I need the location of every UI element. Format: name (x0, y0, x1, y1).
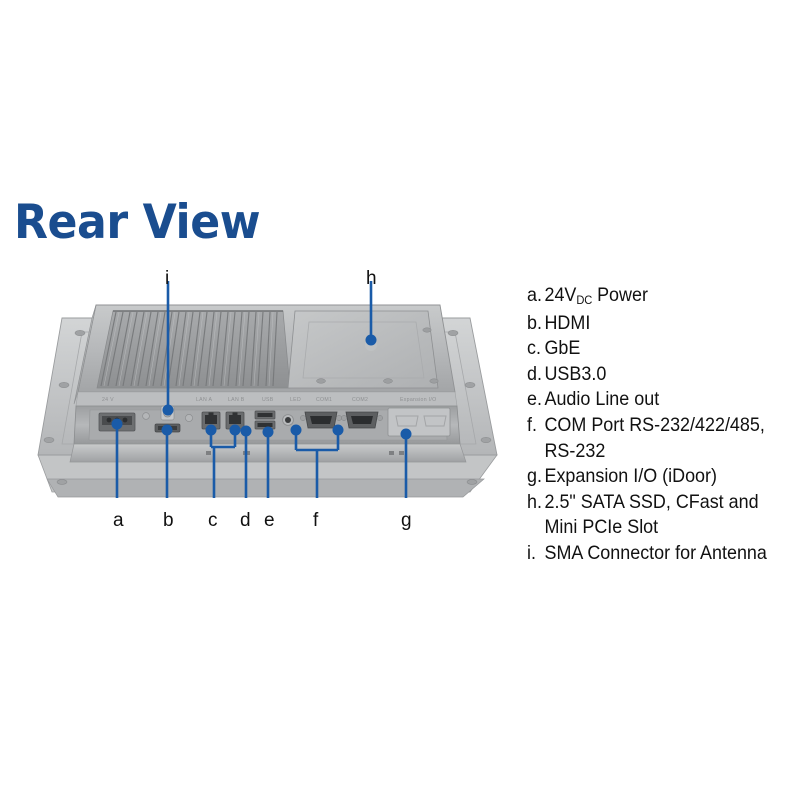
legend-key-f: f. (527, 413, 544, 439)
legend-item-c: c. GbE (527, 336, 774, 362)
legend-value-e: Audio Line out (544, 387, 773, 413)
led-label: LED (290, 397, 301, 403)
legend-value-h: 2.5" SATA SSD, CFast and (544, 490, 773, 516)
callout-letter-g: g (401, 511, 412, 530)
legend-item-a: a. 24VDC Power (527, 283, 774, 311)
page-root: Rear View (0, 0, 800, 800)
legend-item-g: g. Expansion I/O (iDoor) (527, 464, 774, 490)
audio-line-out-jack (283, 415, 294, 426)
legend-value-a: 24VDC Power (544, 283, 773, 311)
callout-letter-h: h (366, 269, 377, 288)
io-silkscreen-strip: 24 V LAN A LAN B USB LED COM1 COM2 Expan… (76, 392, 457, 406)
legend-value-d: USB3.0 (544, 362, 773, 388)
com2-label: COM2 (352, 397, 368, 403)
heatsink (97, 311, 290, 388)
legend-item-h: h. 2.5" SATA SSD, CFast and (527, 490, 774, 516)
callout-letter-e: e (264, 511, 275, 530)
com1-label: COM1 (316, 397, 332, 403)
legend-key-i: i. (527, 541, 544, 567)
legend-key-c: c. (527, 336, 544, 362)
power-label: 24 V (102, 397, 114, 403)
legend-value-a-sub: DC (576, 293, 592, 307)
expansion-io-panel (388, 408, 450, 436)
callout-letter-i: i (165, 269, 169, 288)
legend-item-d: d. USB3.0 (527, 362, 774, 388)
legend-item-f: f. COM Port RS-232/422/485, (527, 413, 774, 439)
legend-value-f: COM Port RS-232/422/485, (544, 413, 773, 439)
chassis-screw-2 (185, 414, 192, 421)
legend-item-h-continuation: Mini PCIe Slot (527, 515, 774, 541)
legend-item-e: e. Audio Line out (527, 387, 774, 413)
expansion-label: Expansion I/O (400, 397, 436, 403)
usb-port-upper (255, 411, 275, 419)
chassis-screw (143, 413, 150, 420)
legend-item-i: i. SMA Connector for Antenna (527, 541, 774, 567)
legend-value-i: SMA Connector for Antenna (544, 541, 773, 567)
legend-key-b: b. (527, 311, 544, 337)
usb-label: USB (262, 397, 274, 403)
callout-letter-b: b (163, 511, 174, 530)
legend-value-a-tail: Power (592, 284, 648, 306)
legend-key-d: d. (527, 362, 544, 388)
callout-letter-c: c (208, 511, 218, 530)
lan-b-label: LAN B (228, 397, 245, 403)
legend-item-f-continuation: RS-232 (527, 439, 774, 465)
callout-letter-f: f (313, 511, 318, 530)
legend-key-h: h. (527, 490, 544, 516)
legend-value-c: GbE (544, 336, 773, 362)
legend-value-a-main: 24V (544, 284, 576, 306)
callout-letter-d: d (240, 511, 251, 530)
legend-value-g: Expansion I/O (iDoor) (544, 464, 773, 490)
legend-key-e: e. (527, 387, 544, 413)
legend-item-b: b. HDMI (527, 311, 774, 337)
legend-value-b: HDMI (544, 311, 773, 337)
legend-list: a. 24VDC Power b. HDMI c. GbE d. USB3.0 … (527, 283, 774, 567)
callout-letter-a: a (113, 511, 124, 530)
legend-key-a: a. (527, 283, 544, 311)
storage-cover-panel (288, 311, 438, 388)
legend-key-g: g. (527, 464, 544, 490)
lan-a-label: LAN A (196, 397, 212, 403)
